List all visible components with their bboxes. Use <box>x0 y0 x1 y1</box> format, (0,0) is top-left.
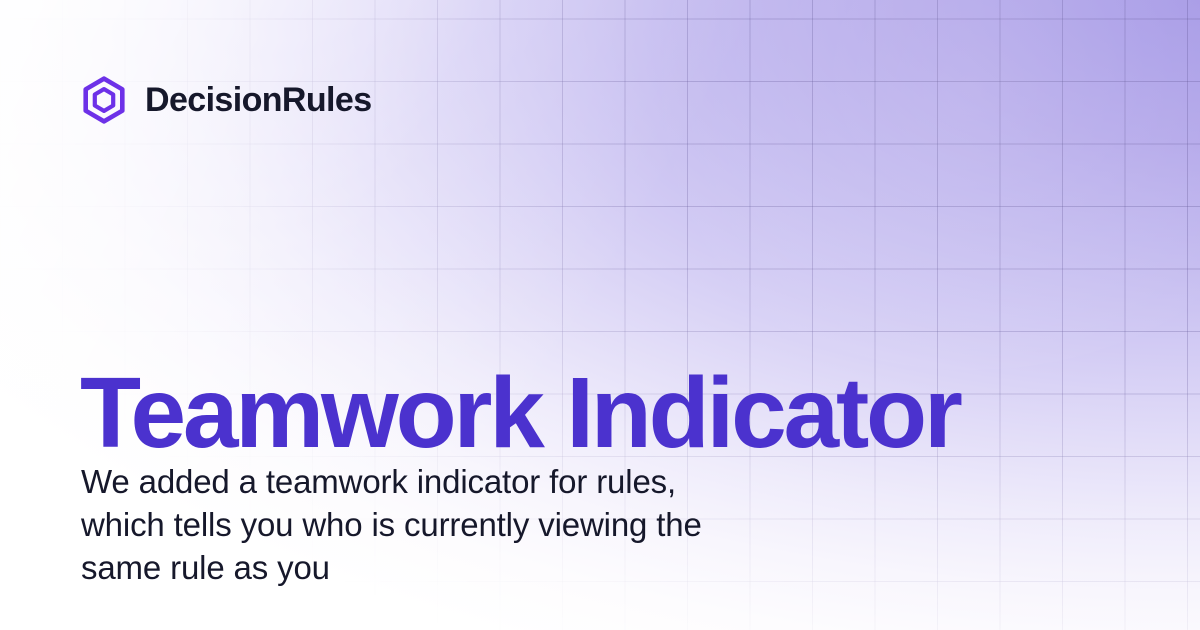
hexagon-outline-icon <box>82 76 126 124</box>
card-content: DecisionRules Teamwork Indicator We adde… <box>0 0 1200 630</box>
brand-name: DecisionRules <box>145 83 372 117</box>
social-card: DecisionRules Teamwork Indicator We adde… <box>0 0 1200 630</box>
page-title: Teamwork Indicator <box>80 361 960 466</box>
brand-lockup: DecisionRules <box>82 76 372 124</box>
page-subtitle: We added a teamwork indicator for rules,… <box>81 461 871 590</box>
